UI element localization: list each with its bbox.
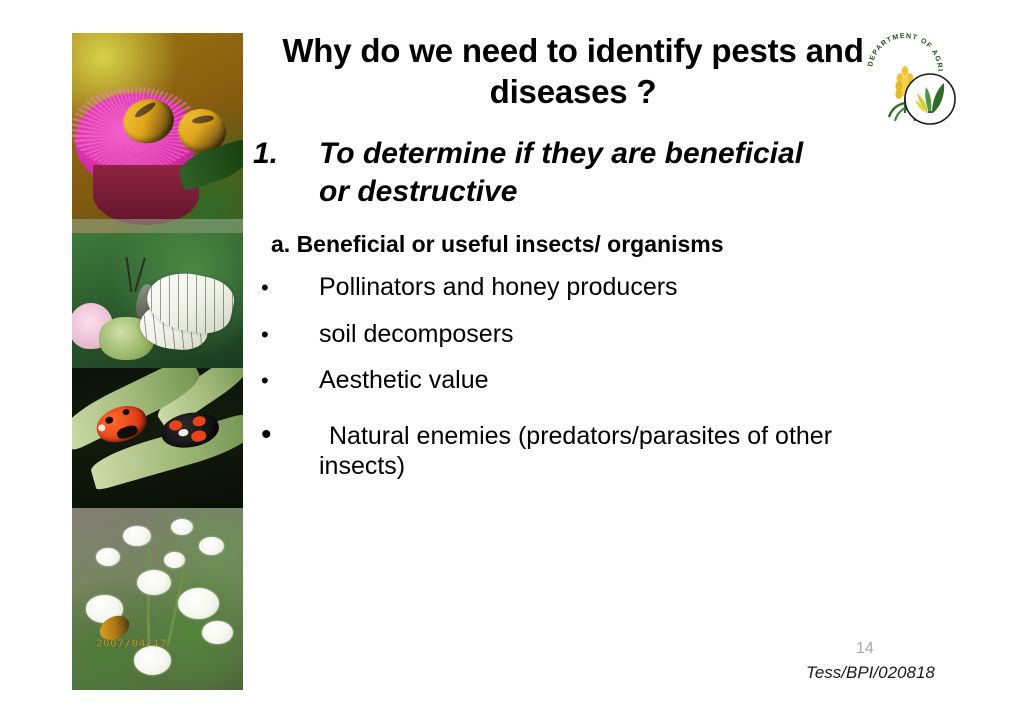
bullet-marker: • [253, 324, 319, 346]
bullet-marker: • [253, 370, 319, 392]
attribution-text: Tess/BPI/020818 [806, 663, 935, 683]
bullet-list: • Pollinators and honey producers • soil… [253, 272, 953, 482]
sub-heading: a. Beneficial or useful insects/ organis… [271, 231, 953, 258]
bullet-item-soil-decomposers: • soil decomposers [253, 319, 953, 350]
ladybug-spot [122, 408, 131, 416]
photo-bumblebees-on-thistle [72, 33, 243, 233]
photo-ladybugs-on-leaf [72, 368, 243, 508]
butterfly-antenna [126, 257, 133, 292]
bullet-item-aesthetic-value: • Aesthetic value [253, 365, 953, 396]
bee-wing [192, 114, 215, 125]
ladybug-head-marking [178, 428, 188, 437]
page-number: 14 [856, 640, 874, 658]
white-flower [123, 526, 150, 546]
bullet-text: soil decomposers [319, 319, 919, 350]
numbered-list-item: 1. To determine if they are beneficial o… [253, 135, 953, 212]
ladybug-spot [191, 415, 206, 427]
numbered-list-text: To determine if they are beneficial or d… [319, 135, 839, 212]
numbered-list-marker: 1. [253, 135, 319, 173]
bullet-text: Aesthetic value [319, 365, 919, 396]
white-flower [96, 548, 120, 566]
flower-stem [147, 541, 150, 650]
bee-wing [134, 101, 157, 120]
photo-honeybee-on-white-flowers: 2007/04/17 [72, 508, 243, 690]
photo-strip: 2007/04/17 [72, 33, 243, 690]
bullet-item-pollinators: • Pollinators and honey producers [253, 272, 953, 303]
bullet-marker: • [253, 277, 319, 299]
slide-content: Why do we need to identify pests and dis… [253, 30, 953, 498]
bullet-marker: • [253, 420, 319, 450]
slide-title-line-1: Why do we need to identify pests [282, 32, 796, 69]
photo-bottom-band [72, 219, 243, 233]
ladybug-spot [190, 430, 207, 443]
white-flower [164, 552, 185, 568]
photo-white-butterfly-on-flower [72, 233, 243, 368]
photo-timestamp-watermark: 2007/04/17 [96, 638, 167, 650]
ladybug-spot [105, 416, 115, 425]
bullet-item-natural-enemies: • Natural enemies (predators/parasites o… [253, 420, 953, 482]
white-flower [178, 588, 219, 619]
slide-title: Why do we need to identify pests and dis… [253, 30, 893, 113]
white-flower [202, 621, 233, 645]
bullet-text: Pollinators and honey producers [319, 272, 919, 303]
bullet-text: Natural enemies (predators/parasites of … [319, 421, 919, 482]
ladybug-head [116, 424, 139, 441]
ladybug-head-marking [97, 424, 106, 433]
